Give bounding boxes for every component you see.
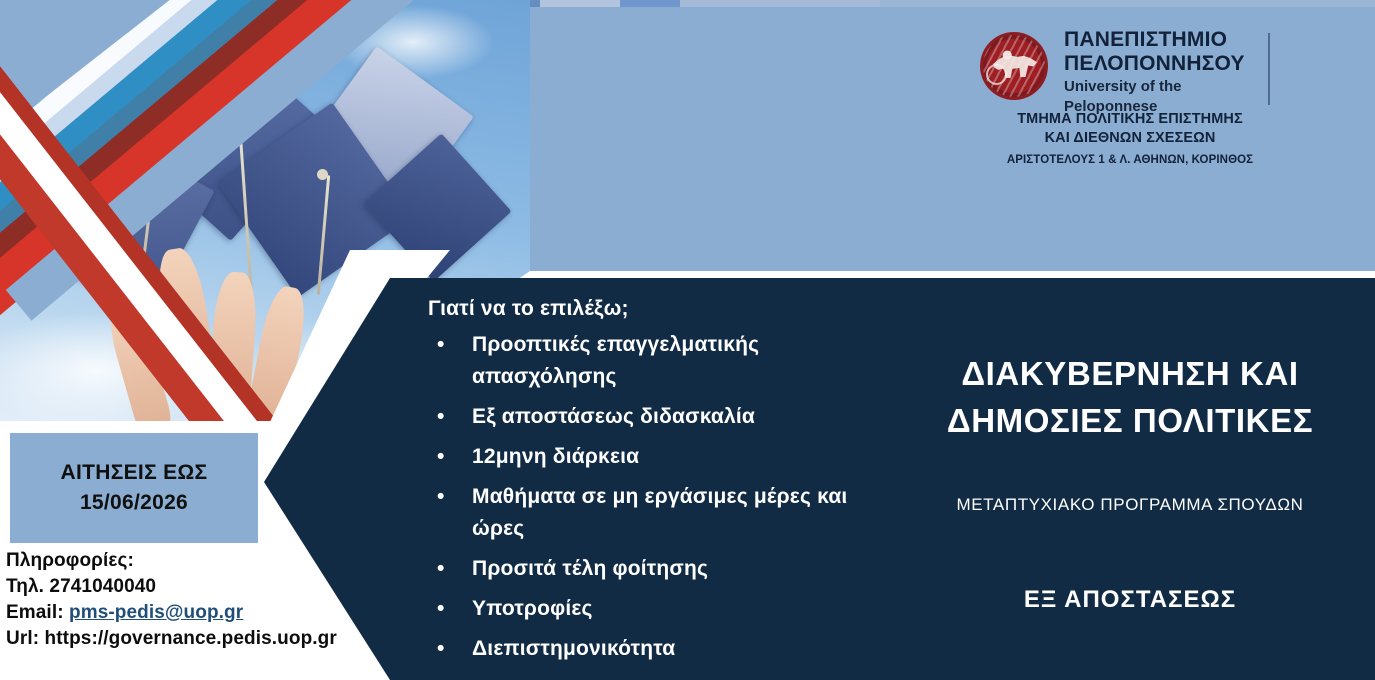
list-item: • Μαθήματα σε μη εργάσιμες μέρες και ώρε… [428,481,858,545]
contact-url-label: Url: [6,628,39,649]
list-item-label: Προοπτικές επαγγελματικής απασχόλησης [472,333,759,388]
contact-url-row: Url: https://governance.pedis.uop.gr [6,626,366,652]
contact-url-value: https://governance.pedis.uop.gr [45,628,337,649]
program-subtitle: ΜΕΤΑΠΤΥΧΙΑΚΟ ΠΡΟΓΡΑΜΜΑ ΣΠΟΥΔΩΝ [900,492,1360,518]
why-choose-block: Γιατί να το επιλέξω; • Προοπτικές επαγγε… [428,294,858,673]
bullet-icon: • [437,481,445,513]
bullet-icon: • [437,593,445,625]
program-title-block: ΔΙΑΚΥΒΕΡΝΗΣΗ ΚΑΙ ΔΗΜΟΣΙΕΣ ΠΟΛΙΤΙΚΕΣ ΜΕΤΑ… [900,350,1360,518]
poster-root: ΠΑΝΕΠΙΣΤΗΜΙΟ ΠΕΛΟΠΟΝΝΗΣΟΥ University of … [0,0,1375,680]
seal-ring-glyph [986,64,1007,85]
bullet-icon: • [437,329,445,361]
bullet-icon: • [437,441,445,473]
department-line1: ΤΜΗΜΑ ΠΟΛΙΤΙΚΗΣ ΕΠΙΣΤΗΜΗΣ [980,110,1280,129]
list-item-label: Διεπιστημονικότητα [472,637,675,660]
list-item-label: 12μηνη διάρκεια [472,445,639,468]
bullet-icon: • [437,401,445,433]
university-seal-pegasus-icon [980,32,1048,100]
contact-phone: Τηλ. 2741040040 [6,574,366,600]
benefits-list: • Προοπτικές επαγγελματικής απασχόλησης … [428,329,858,665]
contact-email-label: Email: [6,602,64,623]
logo-separator-line [1268,33,1270,105]
list-item: • Εξ αποστάσεως διδασκαλία [428,401,858,433]
university-logo-lockup: ΠΑΝΕΠΙΣΤΗΜΙΟ ΠΕΛΟΠΟΝΝΗΣΟΥ University of … [980,28,1280,160]
list-item: • Προσιτά τέλη φοίτησης [428,553,858,585]
contact-block: Πληροφορίες: Τηλ. 2741040040 Email: pms-… [6,548,366,652]
program-title-line1: ΔΙΑΚΥΒΕΡΝΗΣΗ ΚΑΙ [900,350,1360,397]
list-item-label: Εξ αποστάσεως διδασκαλία [472,405,755,428]
deadline-date: 15/06/2026 [80,488,188,518]
list-item: • Διεπιστημονικότητα [428,633,858,665]
university-name-line2: ΠΕΛΟΠΟΝΝΗΣΟΥ [1064,52,1264,76]
contact-email-row: Email: pms-pedis@uop.gr [6,600,366,626]
program-title-line2: ΔΗΜΟΣΙΕΣ ΠΟΛΙΤΙΚΕΣ [900,397,1360,444]
list-item: • Προοπτικές επαγγελματικής απασχόλησης [428,329,858,393]
department-line2: ΚΑΙ ΔΙΕΘΝΩΝ ΣΧΕΣΕΩΝ [980,129,1280,148]
contact-info-label: Πληροφορίες: [6,548,366,574]
list-item-label: Μαθήματα σε μη εργάσιμες μέρες και ώρες [472,485,847,540]
list-item-label: Προσιτά τέλη φοίτησης [472,557,708,580]
list-item: • 12μηνη διάρκεια [428,441,858,473]
university-name-line1: ΠΑΝΕΠΙΣΤΗΜΙΟ [1064,28,1264,52]
why-choose-title: Γιατί να το επιλέξω; [428,294,858,324]
list-item: • Υποτροφίες [428,593,858,625]
bullet-icon: • [437,553,445,585]
contact-email-link[interactable]: pms-pedis@uop.gr [69,602,243,623]
program-delivery-mode: ΕΞ ΑΠΟΣΤΑΣΕΩΣ [900,586,1360,614]
deadline-label: ΑΙΤΗΣΕΙΣ ΕΩΣ [61,458,208,488]
bullet-icon: • [437,633,445,665]
application-deadline-box: ΑΙΤΗΣΕΙΣ ΕΩΣ 15/06/2026 [10,433,258,543]
department-name: ΤΜΗΜΑ ΠΟΛΙΤΙΚΗΣ ΕΠΙΣΤΗΜΗΣ ΚΑΙ ΔΙΕΘΝΩΝ ΣΧ… [980,110,1280,169]
department-address: ΑΡΙΣΤΟΤΕΛΟΥΣ 1 & Λ. ΑΘΗΝΩΝ, ΚΟΡΙΝΘΟΣ [980,152,1280,169]
university-name: ΠΑΝΕΠΙΣΤΗΜΙΟ ΠΕΛΟΠΟΝΝΗΣΟΥ University of … [1064,28,1264,117]
list-item-label: Υποτροφίες [472,597,593,620]
